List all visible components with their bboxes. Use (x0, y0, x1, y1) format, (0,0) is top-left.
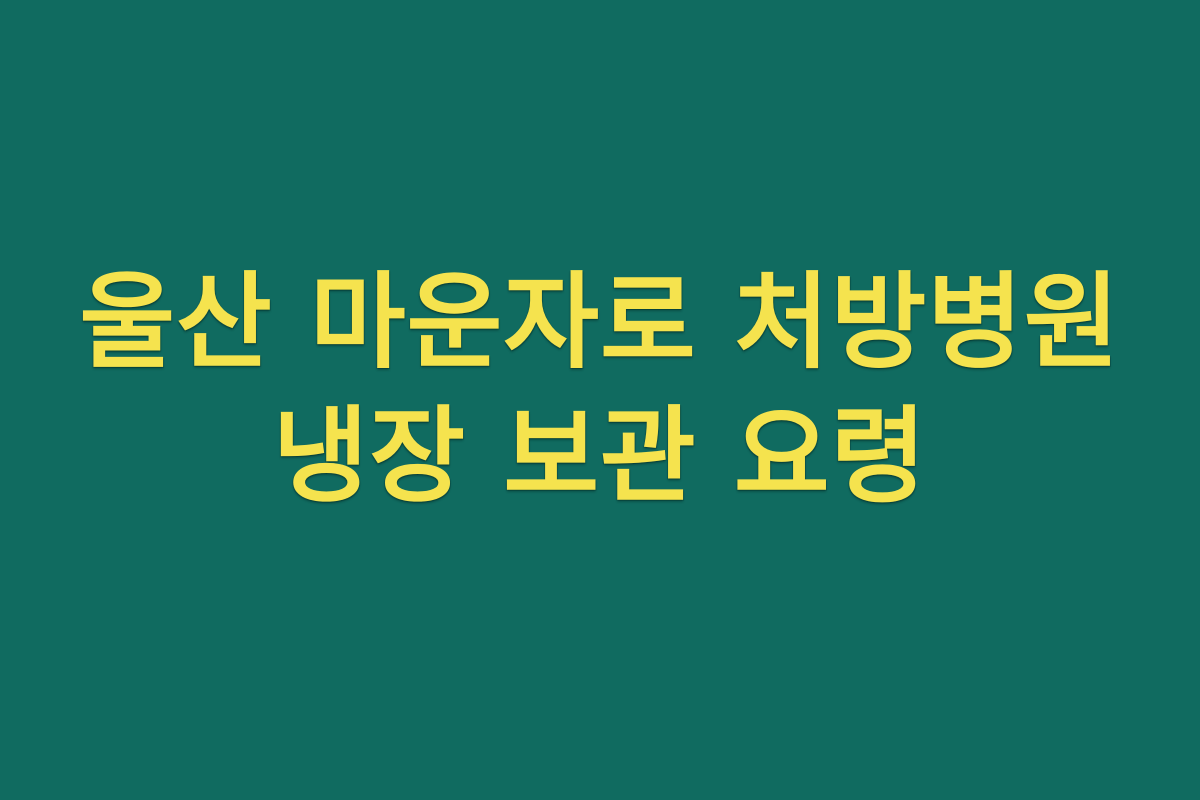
headline-line-2: 냉장 보관 요령 (0, 398, 1200, 514)
headline-line-1: 울산 마운자로 처방병원 (0, 264, 1200, 380)
headline-block: 울산 마운자로 처방병원 냉장 보관 요령 (0, 264, 1200, 515)
thumbnail-canvas: 울산 마운자로 처방병원 냉장 보관 요령 (0, 0, 1200, 800)
